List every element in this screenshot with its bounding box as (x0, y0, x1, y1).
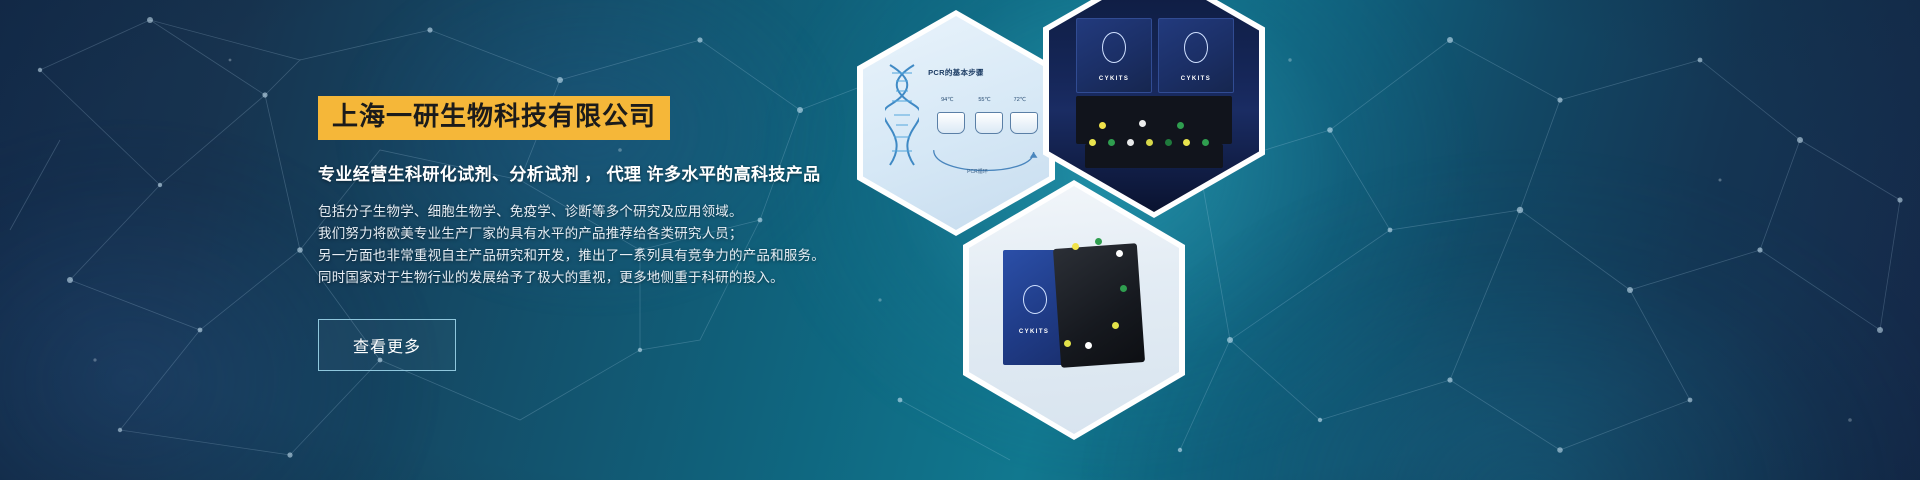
vial-tray-lower (1085, 144, 1224, 168)
brand-logo-ring-kit (1023, 285, 1048, 314)
kit-vial-6 (1085, 342, 1092, 349)
product-box-left: CYKITS (1076, 18, 1152, 93)
paragraph-line-1: 包括分子生物学、细胞生物学、免疫学、诊断等多个研究及应用领域。 (318, 201, 838, 223)
pcr-temp-2: 55℃ (978, 97, 990, 103)
brand-label-kit: CYKITS (1003, 329, 1066, 335)
hex-product-boxes-image: CYKITS CYKITS (1049, 0, 1259, 212)
vial-4 (1146, 139, 1153, 146)
paragraph-line-4: 同时国家对于生物行业的发展给予了极大的重视，更多地侧重于科研的投入。 (318, 267, 838, 289)
pcr-temp-3: 72℃ (1014, 97, 1026, 103)
pcr-diagram-title: PCR的基本步骤 (863, 67, 1049, 78)
kit-vial-1 (1072, 243, 1079, 250)
view-more-button[interactable]: 查看更多 (318, 319, 456, 371)
kit-pouch (1053, 243, 1145, 368)
vial-5 (1165, 139, 1172, 146)
paragraph-line-2: 我们努力将欧美专业生产厂家的具有水平的产品推荐给各类研究人员； (318, 223, 838, 245)
kit-vial-7 (1064, 340, 1071, 347)
vial-tray-upper (1076, 96, 1231, 144)
hero-subtitle: 专业经营生科研化试剂、分析试剂 ， 代理 许多水平的高科技产品 (318, 160, 838, 185)
brand-label-left: CYKITS (1077, 76, 1151, 82)
pcr-cycle-caption: PCR循环 (967, 168, 988, 175)
pcr-temp-1: 94℃ (941, 97, 953, 103)
hero-banner: 上海一研生物科技有限公司 专业经营生科研化试剂、分析试剂 ， 代理 许多水平的高… (0, 0, 1920, 480)
dna-helix-icon (885, 63, 919, 167)
pcr-tube-3 (1010, 112, 1038, 134)
product-box-right: CYKITS (1158, 18, 1234, 93)
paragraph-line-3: 另一方面也非常重视自主产品研究和开发，推出了一系列具有竞争力的产品和服务。 (318, 245, 838, 267)
company-title: 上海一研生物科技有限公司 (318, 96, 670, 140)
hero-copy: 上海一研生物科技有限公司 专业经营生科研化试剂、分析试剂 ， 代理 许多水平的高… (318, 96, 838, 371)
brand-label-right: CYKITS (1159, 76, 1233, 82)
hero-paragraph: 包括分子生物学、细胞生物学、免疫学、诊断等多个研究及应用领域。 我们努力将欧美专… (318, 201, 838, 289)
pcr-tube-2 (975, 112, 1003, 134)
hex-pcr-diagram[interactable]: PCR的基本步骤 94℃ 55℃ 72℃ PCR循环 (857, 10, 1055, 236)
brand-logo-ring-left (1102, 32, 1126, 63)
hex-pcr-image: PCR的基本步骤 94℃ 55℃ 72℃ PCR循环 (863, 16, 1049, 230)
hex-product-kit[interactable]: CYKITS (963, 180, 1185, 440)
brand-logo-ring-right (1184, 32, 1208, 63)
pcr-tube-1 (937, 112, 965, 134)
hex-product-kit-image: CYKITS (969, 186, 1179, 434)
pcr-cycle-arrow-icon (926, 140, 1041, 187)
product-hexagon-cluster: PCR的基本步骤 94℃ 55℃ 72℃ PCR循环 (845, 0, 1245, 480)
